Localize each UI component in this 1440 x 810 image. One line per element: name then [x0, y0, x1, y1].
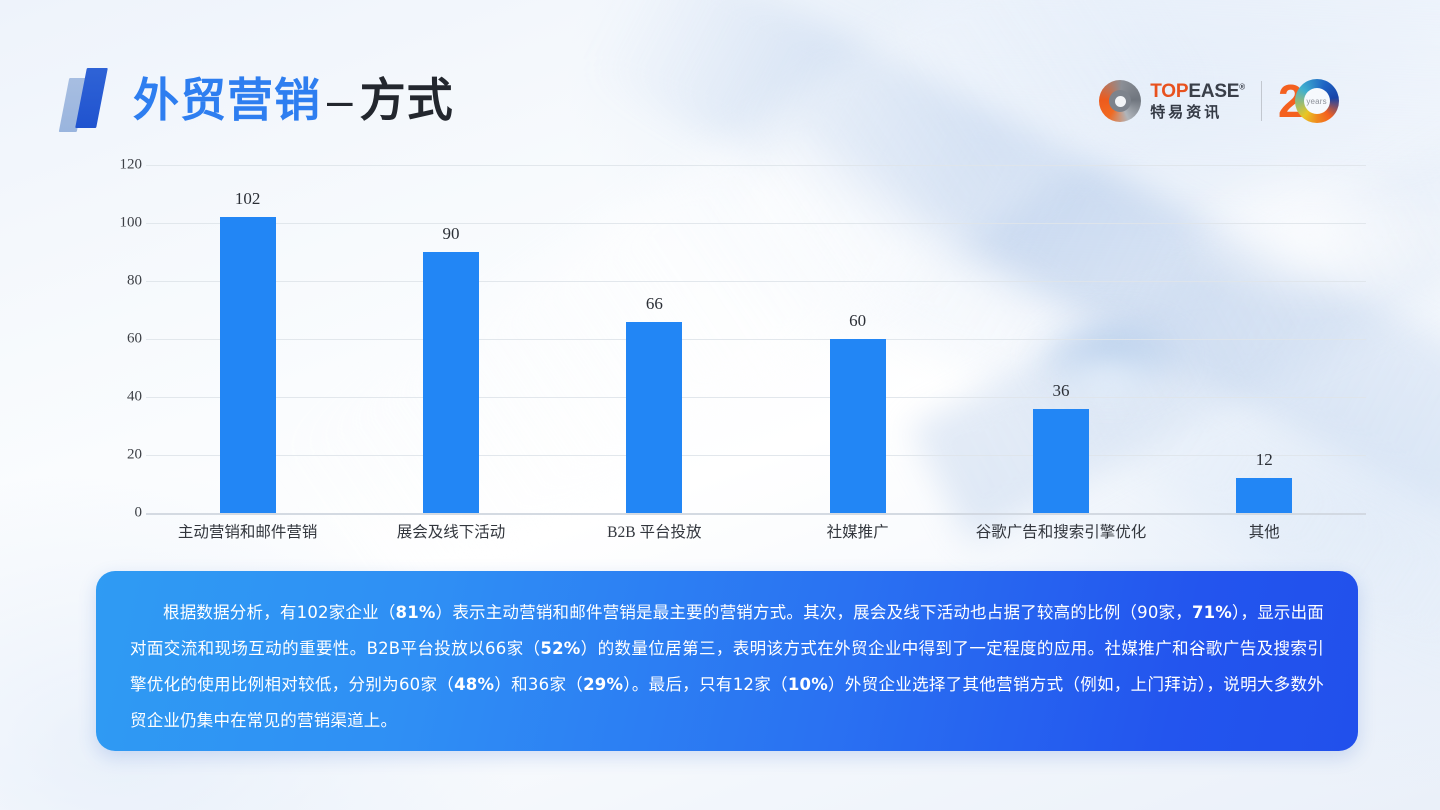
- bar-value-label: 12: [1256, 450, 1273, 470]
- summary-highlight: 52%: [540, 639, 580, 658]
- y-axis: 120100806040200: [96, 165, 142, 513]
- slide-header: 外贸营销–方式 TOPEASE® 特易资讯 2 years: [0, 0, 1440, 160]
- y-axis-tick-label: 60: [127, 331, 142, 348]
- bar-slot[interactable]: 90: [349, 165, 552, 513]
- bar[interactable]: [830, 339, 886, 513]
- anniversary-years-label: years: [1306, 97, 1327, 106]
- page-title-separator: –: [321, 74, 360, 126]
- logo-english-name: TOPEASE®: [1150, 82, 1245, 101]
- summary-card: 根据数据分析，有102家企业（81%）表示主动营销和邮件营销是最主要的营销方式。…: [96, 571, 1358, 751]
- slide: 外贸营销–方式 TOPEASE® 特易资讯 2 years: [0, 0, 1440, 810]
- y-axis-tick-label: 20: [127, 447, 142, 464]
- y-axis-tick-label: 80: [127, 273, 142, 290]
- logo-chinese-name: 特易资讯: [1150, 105, 1245, 120]
- brand-logo: TOPEASE® 特易资讯 2 years: [1099, 74, 1370, 128]
- title-accent-marks: [64, 68, 134, 134]
- x-axis-labels: 主动营销和邮件营销展会及线下活动B2B 平台投放社媒推广谷歌广告和搜索引擎优化其…: [146, 520, 1366, 542]
- topease-ring-core: [1115, 96, 1126, 107]
- topease-ring-inner: [1109, 90, 1131, 112]
- y-axis-tick-label: 0: [135, 505, 143, 522]
- logo-wordmark: TOPEASE® 特易资讯: [1150, 82, 1245, 120]
- anniversary-badge: 2 years: [1278, 78, 1370, 124]
- accent-bar-front-icon: [75, 68, 108, 128]
- page-title: 外贸营销–方式: [133, 70, 454, 130]
- registered-mark-icon: ®: [1239, 83, 1245, 92]
- y-axis-tick-label: 40: [127, 389, 142, 406]
- summary-fragment: 根据数据分析，有102家企业（: [163, 603, 396, 622]
- y-axis-tick-label: 100: [120, 215, 143, 232]
- summary-fragment: ）表示主动营销和邮件营销是最主要的营销方式。其次，展会及线下活动也占据了较高的比…: [436, 603, 1192, 622]
- summary-highlight: 48%: [454, 675, 494, 694]
- y-axis-tick-label: 120: [120, 157, 143, 174]
- x-axis-category-label: 谷歌广告和搜索引擎优化: [959, 520, 1162, 542]
- topease-ring-icon: [1099, 80, 1141, 122]
- x-axis-category-label: 社媒推广: [756, 520, 959, 542]
- summary-highlight: 81%: [396, 603, 436, 622]
- bar[interactable]: [423, 252, 479, 513]
- bar-slot[interactable]: 60: [756, 165, 959, 513]
- logo-divider: [1261, 81, 1262, 121]
- bar-value-label: 66: [646, 294, 663, 314]
- x-axis-category-label: 主动营销和邮件营销: [146, 520, 349, 542]
- bar-value-label: 102: [235, 189, 261, 209]
- bar-slot[interactable]: 36: [959, 165, 1162, 513]
- summary-highlight: 71%: [1192, 603, 1232, 622]
- summary-highlight: 29%: [583, 675, 623, 694]
- bar-chart: 120100806040200 1029066603612 主动营销和邮件营销展…: [96, 165, 1366, 550]
- axis-baseline: [146, 513, 1366, 515]
- logo-word-ease: EASE: [1188, 81, 1239, 102]
- anniversary-ring-hole: years: [1304, 88, 1330, 114]
- plot-area: 1029066603612: [146, 165, 1366, 513]
- bar-value-label: 90: [442, 224, 459, 244]
- bar[interactable]: [1033, 409, 1089, 513]
- bar[interactable]: [1236, 478, 1292, 513]
- bar[interactable]: [220, 217, 276, 513]
- bar-value-label: 60: [849, 311, 866, 331]
- bar-slot[interactable]: 66: [553, 165, 756, 513]
- bar[interactable]: [626, 322, 682, 513]
- bar-value-label: 36: [1052, 381, 1069, 401]
- x-axis-category-label: 其他: [1163, 520, 1366, 542]
- summary-highlight: 10%: [788, 675, 828, 694]
- page-title-primary: 外贸营销: [133, 74, 321, 126]
- anniversary-ring-icon: years: [1295, 79, 1339, 123]
- x-axis-category-label: B2B 平台投放: [553, 520, 756, 542]
- bar-slot[interactable]: 12: [1163, 165, 1366, 513]
- summary-fragment: ）和36家（: [494, 675, 583, 694]
- summary-fragment: ）。最后，只有12家（: [623, 675, 788, 694]
- bar-series: 1029066603612: [146, 165, 1366, 513]
- logo-word-top: TOP: [1150, 81, 1188, 102]
- page-title-secondary: 方式: [360, 74, 454, 126]
- x-axis-category-label: 展会及线下活动: [349, 520, 552, 542]
- bar-slot[interactable]: 102: [146, 165, 349, 513]
- summary-text: 根据数据分析，有102家企业（81%）表示主动营销和邮件营销是最主要的营销方式。…: [130, 595, 1324, 739]
